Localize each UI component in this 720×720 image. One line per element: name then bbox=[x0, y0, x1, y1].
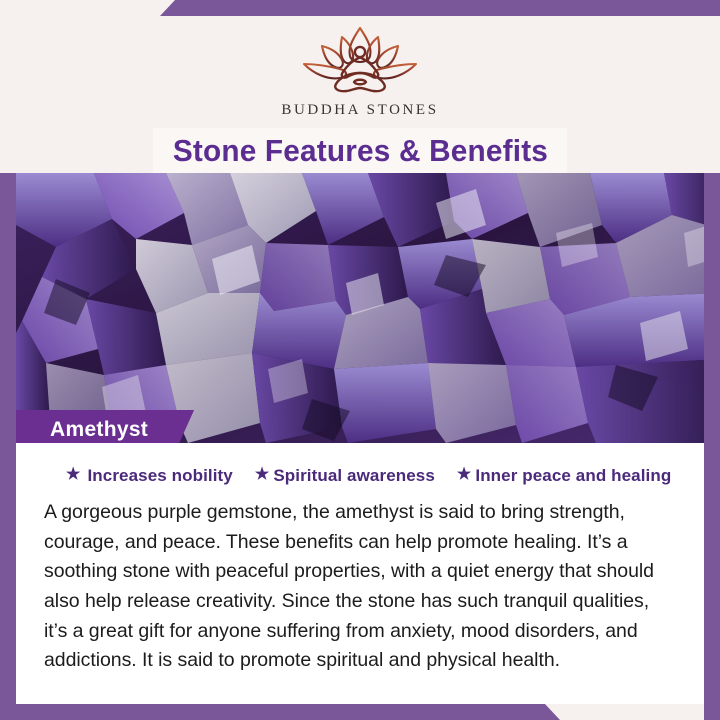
lotus-meditation-logo-icon bbox=[290, 22, 430, 98]
brand-name: BUDDHA STONES bbox=[0, 102, 720, 119]
page-title: Stone Features & Benefits bbox=[172, 133, 547, 169]
frame-bottom-border bbox=[0, 704, 720, 720]
stone-photo: Amethyst bbox=[16, 173, 720, 443]
header-left-corner-fill bbox=[0, 0, 16, 173]
benefit-label: Spiritual awareness bbox=[273, 466, 435, 486]
benefit-item: ★ Increases nobility bbox=[66, 466, 233, 486]
star-icon: ★ bbox=[457, 467, 471, 483]
benefit-label: Increases nobility bbox=[87, 466, 232, 486]
brand-logo: BUDDHA STONES bbox=[0, 22, 720, 119]
benefit-item: ★ Inner peace and healing bbox=[457, 466, 671, 486]
stone-description: A gorgeous purple gemstone, the amethyst… bbox=[44, 498, 674, 676]
star-icon: ★ bbox=[66, 467, 80, 483]
stone-name: Amethyst bbox=[50, 418, 148, 442]
amethyst-crystal-cluster-photo-icon bbox=[16, 173, 720, 443]
benefits-list: ★ Increases nobility ★ Spiritual awarene… bbox=[66, 466, 674, 486]
description-card: ★ Increases nobility ★ Spiritual awarene… bbox=[16, 443, 704, 704]
benefit-label: Inner peace and healing bbox=[475, 466, 671, 486]
stone-name-banner: Amethyst bbox=[16, 410, 194, 443]
benefit-item: ★ Spiritual awareness bbox=[255, 466, 435, 486]
page-title-plate: Stone Features & Benefits bbox=[153, 128, 567, 173]
header-right-corner-fill bbox=[704, 16, 720, 173]
star-icon: ★ bbox=[255, 467, 269, 483]
header-section: BUDDHA STONES Stone Features & Benefits bbox=[0, 0, 720, 173]
stone-features-infographic: BUDDHA STONES Stone Features & Benefits bbox=[0, 0, 720, 720]
